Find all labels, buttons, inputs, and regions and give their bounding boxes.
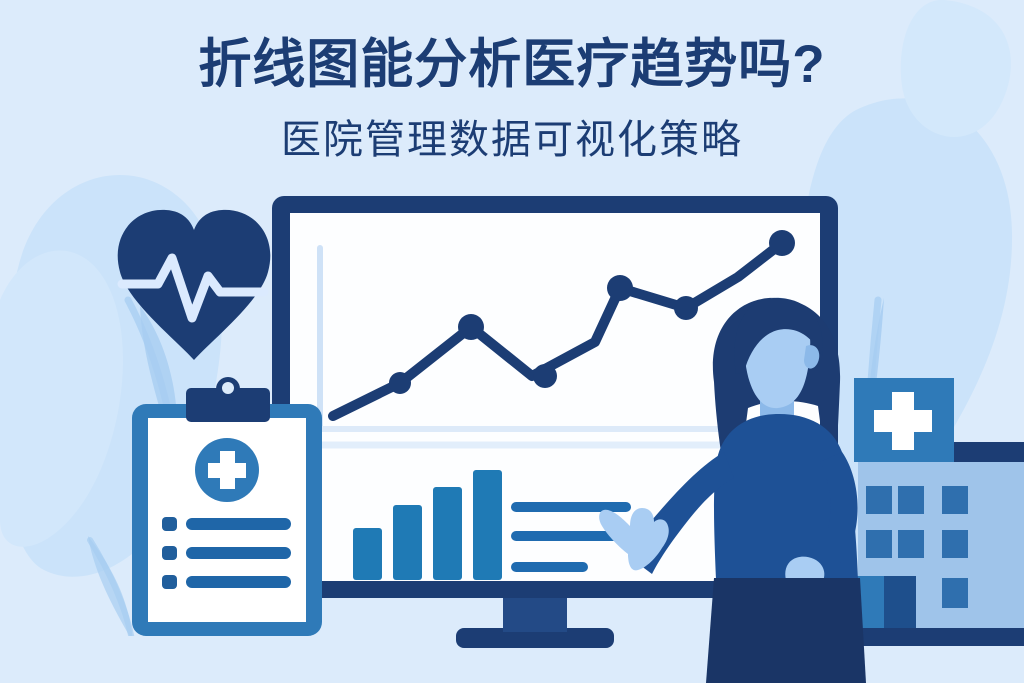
hospital-window [898, 486, 924, 514]
monitor-neck [503, 598, 567, 632]
list-line [186, 576, 291, 588]
bar [433, 487, 462, 580]
presenter-skirt [706, 578, 866, 683]
illustration-layer [0, 0, 1024, 683]
list-line [186, 518, 291, 530]
list-bullet [162, 575, 177, 589]
hospital-window [942, 578, 968, 608]
hospital-window [898, 530, 924, 558]
list-bullet [162, 546, 177, 560]
bar [473, 470, 502, 580]
list-bullet [162, 517, 177, 531]
hospital-window [866, 486, 892, 514]
hospital-window [942, 530, 968, 558]
line-chart-marker [674, 296, 698, 320]
hospital-door-panel [884, 576, 916, 630]
medical-clipboard[interactable] [132, 377, 322, 636]
poster-canvas: 折线图能分析医疗趋势吗? 医院管理数据可视化策略 [0, 0, 1024, 683]
text-line [511, 502, 631, 512]
hospital-ledge [954, 442, 1024, 462]
line-chart-marker [458, 314, 484, 340]
heart-pulse-icon [118, 210, 271, 360]
list-line [186, 547, 291, 559]
bar [393, 505, 422, 580]
clipboard-clip-hole-inner [222, 382, 234, 394]
hospital-window [942, 486, 968, 514]
line-chart-marker [389, 372, 411, 394]
line-chart-marker [769, 230, 795, 256]
bar [353, 528, 382, 580]
hospital-window [866, 530, 892, 558]
line-chart-marker [533, 364, 557, 388]
text-line [511, 562, 588, 572]
line-chart-marker [607, 275, 633, 301]
